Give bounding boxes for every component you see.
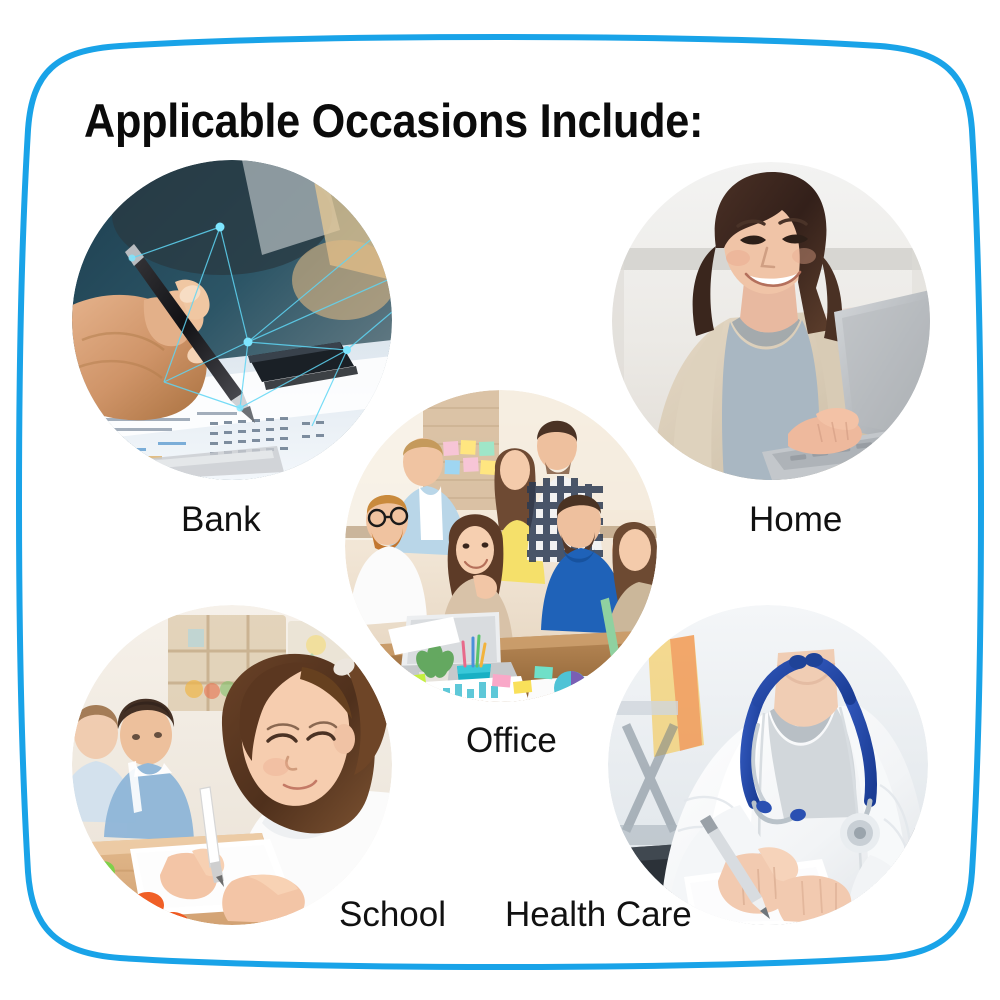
occasion-image-school (72, 605, 392, 925)
occasion-label-home: Home (749, 500, 842, 540)
poster-canvas: Applicable Occasions Include: (0, 0, 1000, 1000)
page-title: Applicable Occasions Include: (84, 93, 703, 148)
occasion-label-bank: Bank (181, 500, 261, 540)
occasion-label-health-care: Health Care (505, 895, 692, 935)
health-care-illustration (608, 605, 928, 925)
occasion-label-school: School (339, 895, 446, 935)
occasion-image-health-care (608, 605, 928, 925)
occasion-label-office: Office (466, 721, 557, 761)
office-illustration (345, 390, 657, 702)
occasion-image-home (612, 162, 930, 480)
occasion-image-office (345, 390, 657, 702)
school-illustration (72, 605, 392, 925)
home-illustration (612, 162, 930, 480)
occasion-image-bank (72, 160, 392, 480)
bank-illustration (72, 160, 392, 480)
